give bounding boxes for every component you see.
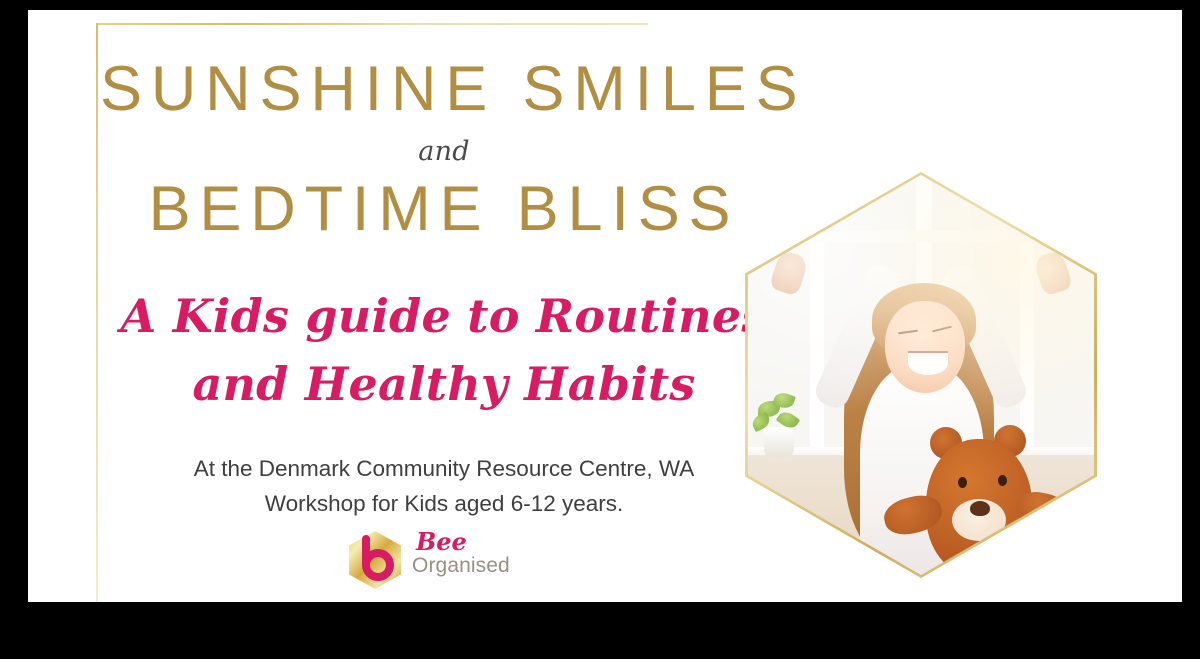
headline-line-2: BEDTIME BLISS: [100, 178, 788, 241]
plant-pot: [764, 427, 794, 457]
girl-face: [885, 301, 965, 393]
teddy-eye-right: [998, 475, 1007, 486]
teddy-nose: [970, 501, 990, 516]
hexagon-photo-frame: [745, 172, 1097, 578]
subheading-line-2: and Healthy Habits: [100, 350, 788, 418]
poster-root: SUNSHINE SMILES and BEDTIME BLISS A Kids…: [0, 0, 1200, 659]
window-transom: [748, 231, 1094, 243]
teddy-eye-left: [958, 477, 967, 488]
logo-word-organised: Organised: [412, 554, 544, 579]
logo-wordmark: Bee Organised: [412, 530, 544, 592]
text-column: SUNSHINE SMILES and BEDTIME BLISS A Kids…: [100, 10, 788, 602]
event-audience: Workshop for Kids aged 6-12 years.: [100, 487, 788, 522]
event-location: At the Denmark Community Resource Centre…: [194, 456, 695, 481]
girl-mouth: [908, 351, 948, 375]
hexagon-b-logo-icon: [344, 529, 406, 591]
window-mullion-left: [810, 175, 824, 475]
event-details: At the Denmark Community Resource Centre…: [100, 452, 788, 522]
bee-organised-logo: Bee Organised: [344, 526, 544, 596]
flyer-card: SUNSHINE SMILES and BEDTIME BLISS A Kids…: [28, 10, 1182, 602]
headline-line-1: SUNSHINE SMILES: [100, 58, 788, 121]
subheading: A Kids guide to Routines and Healthy Hab…: [100, 282, 788, 418]
child-photo: [748, 175, 1094, 575]
photo-scene: [748, 175, 1094, 575]
logo-word-bee: Bee: [416, 530, 544, 554]
gold-frame-left-line: [96, 23, 98, 602]
headline-connector: and: [100, 136, 788, 167]
subheading-line-1: A Kids guide to Routines: [121, 289, 768, 343]
